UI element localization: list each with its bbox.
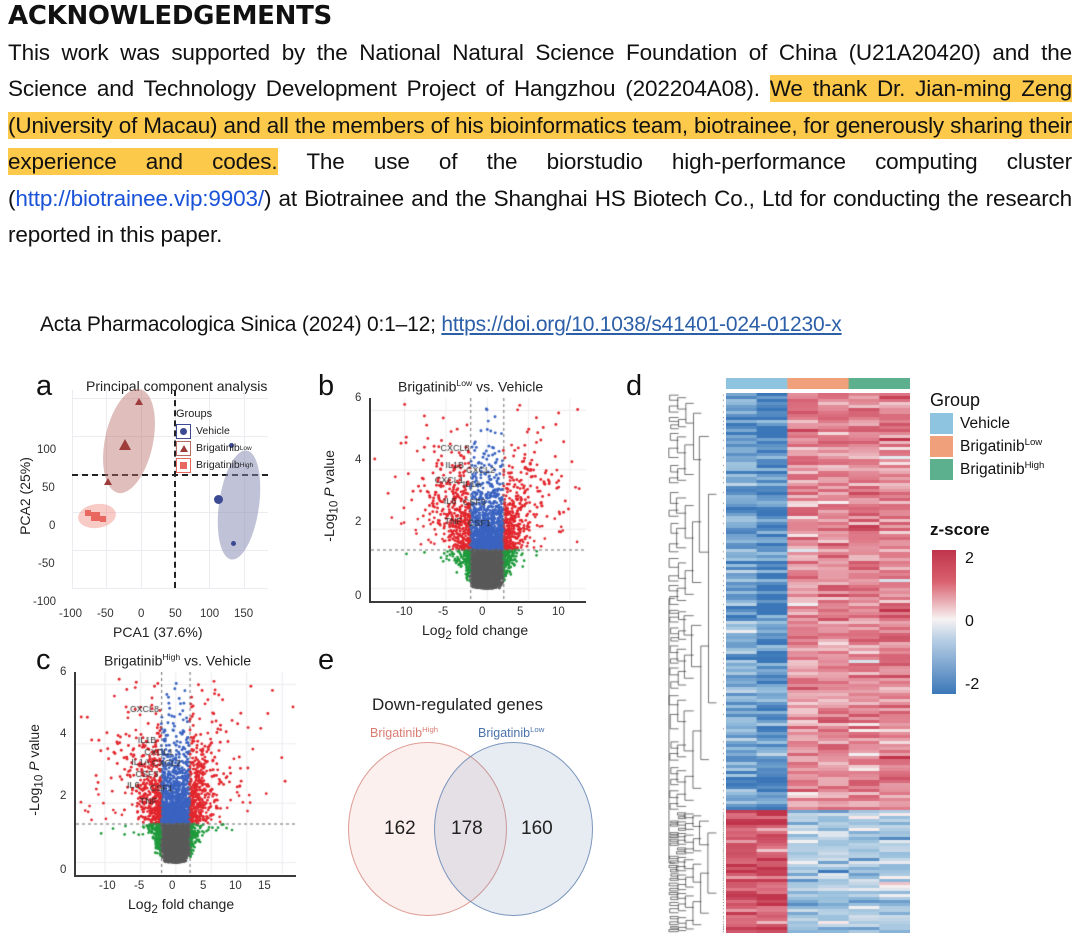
heatmap-matrix <box>726 393 910 933</box>
pca-ytick: 100 <box>37 444 56 456</box>
volcano-c-title-sup: High <box>162 652 180 662</box>
venn-label-low-text: Brigatinib <box>478 726 530 740</box>
volcano-b-ytick: 2 <box>355 516 361 528</box>
journal-reference: Acta Pharmacologica Sinica (2024) 0:1–12… <box>40 313 441 336</box>
volcano-b-xaxis <box>369 601 586 603</box>
volcano-c-xaxis-label: Log2 fold change <box>128 896 234 916</box>
doi-link[interactable]: https://doi.org/10.1038/s41401-024-01230… <box>441 313 841 336</box>
pca-xtick: 0 <box>138 608 144 620</box>
heatmap-legend-item-brigatinib-high[interactable]: BrigatinibHigh <box>930 459 1044 480</box>
volcano-c-xtick: -10 <box>99 880 116 892</box>
venn-title: Down-regulated genes <box>372 695 543 715</box>
volcano-c-xtick: 10 <box>229 880 242 892</box>
pca-legend-item-brigatinib-low[interactable]: BrigatinibLow <box>176 440 253 456</box>
pca-legend-label: Brigatinib <box>196 442 240 454</box>
pca-legend-label-sup: High <box>240 462 253 469</box>
pca-legend-item-vehicle[interactable]: Vehicle <box>176 423 253 439</box>
pca-legend-label: Brigatinib <box>196 459 240 471</box>
volcano-b-title-suffix: vs. Vehicle <box>472 379 543 395</box>
pca-point-brigatinib-high <box>91 512 100 521</box>
pca-ytick: -50 <box>38 558 55 570</box>
pca-xtick: 150 <box>234 608 253 620</box>
heatmap-legend-label-sup: High <box>1025 460 1045 471</box>
venn-diagram: 162 178 160 <box>348 742 598 914</box>
pca-point-brigatinib-high <box>104 478 112 485</box>
pca-xtick: 50 <box>169 608 182 620</box>
heatmap-legend-label: BrigatinibLow <box>960 437 1042 456</box>
pca-xtick: -50 <box>97 608 114 620</box>
brigatinib-high-marker-icon <box>176 458 191 473</box>
volcano-b-ytick: 6 <box>355 392 361 404</box>
heatmap-legend-item-vehicle[interactable]: Vehicle <box>930 413 1044 434</box>
pca-point-brigatinib-low <box>119 439 131 450</box>
volcano-b-ytick: 0 <box>355 590 361 602</box>
pca-legend-title: Groups <box>176 408 253 420</box>
volcano-b-xtick: 0 <box>479 606 485 618</box>
zscore-tick-high: 2 <box>965 550 974 568</box>
heatmap-legend-label: BrigatinibHigh <box>960 460 1044 479</box>
volcano-b-yaxis <box>369 398 371 602</box>
pca-legend-item-brigatinib-high[interactable]: BrigatinibHigh <box>176 457 253 473</box>
heatmap-legend-label: Vehicle <box>960 415 1010 433</box>
panel-letter-d: d <box>626 372 642 401</box>
acknowledgements-heading: ACKNOWLEDGEMENTS <box>8 2 1072 31</box>
volcano-c-canvas <box>76 672 296 874</box>
panel-letter-b: b <box>318 372 334 401</box>
volcano-c-title: BrigatinibHigh vs. Vehicle <box>104 652 251 669</box>
volcano-plot-b <box>371 398 586 600</box>
venn-label-high: BrigatinibHigh <box>370 725 438 740</box>
volcano-c-ytick: 4 <box>60 728 66 740</box>
volcano-c-ytick: 6 <box>60 666 66 678</box>
volcano-b-ytick: 4 <box>355 454 361 466</box>
volcano-c-xtick: 0 <box>169 880 175 892</box>
venn-count-intersection: 178 <box>451 818 483 840</box>
heatmap-legend-item-brigatinib-low[interactable]: BrigatinibLow <box>930 436 1044 457</box>
volcano-c-title-prefix: Brigatinib <box>104 653 162 669</box>
volcano-c-title-suffix: vs. Vehicle <box>180 653 251 669</box>
volcano-b-xtick: 10 <box>552 606 565 618</box>
heatmap-legend: Group Vehicle BrigatinibLow BrigatinibHi… <box>930 390 1044 480</box>
pca-xtick: 100 <box>200 608 219 620</box>
citation-line: Acta Pharmacologica Sinica (2024) 0:1–12… <box>40 313 842 337</box>
volcano-c-xtick: -5 <box>134 880 144 892</box>
brigatinib-low-swatch-icon <box>930 436 953 457</box>
pca-yaxis-label: PCA2 (25%) <box>17 457 33 535</box>
vehicle-swatch-icon <box>930 413 953 434</box>
volcano-c-xtick: 15 <box>258 880 271 892</box>
zscore-tick-low: -2 <box>965 676 979 694</box>
heatmap-legend-label-text: Brigatinib <box>960 461 1025 478</box>
pca-point-brigatinib-high <box>100 516 106 522</box>
zscore-legend-title: z-score <box>930 520 990 540</box>
volcano-b-title: BrigatinibLow vs. Vehicle <box>398 378 543 395</box>
pca-xaxis-label: PCA1 (37.6%) <box>113 624 202 640</box>
venn-label-high-text: Brigatinib <box>370 726 422 740</box>
volcano-b-canvas <box>371 398 586 600</box>
volcano-b-xaxis-label: Log2 fold change <box>422 622 528 642</box>
volcano-c-ytick: 0 <box>60 864 66 876</box>
cluster-url-link[interactable]: http://biotrainee.vip:9903/ <box>15 186 264 211</box>
heatmap-group-annotation-bar <box>726 378 910 389</box>
pca-legend-label: Vehicle <box>196 425 230 437</box>
brigatinib-low-marker-icon <box>176 441 191 456</box>
venn-count-low-only: 160 <box>521 818 553 840</box>
pca-point-vehicle <box>214 495 223 504</box>
acknowledgements-body: This work was supported by the National … <box>8 35 1072 254</box>
volcano-c-xaxis <box>74 875 296 877</box>
volcano-plot-c <box>76 672 296 874</box>
heatmap-legend-label-sup: Low <box>1025 437 1043 448</box>
panel-letter-e: e <box>318 646 334 675</box>
pca-legend-label-sup: Low <box>240 445 252 452</box>
zscore-tick-mid: 0 <box>965 613 974 631</box>
venn-count-high-only: 162 <box>384 818 416 840</box>
venn-label-low-sup: Low <box>530 725 544 734</box>
pca-point-brigatinib-low <box>135 398 143 405</box>
volcano-b-xtick: -5 <box>438 606 448 618</box>
volcano-b-title-sup: Low <box>456 378 472 388</box>
pca-xtick: -100 <box>59 608 82 620</box>
volcano-c-yaxis <box>74 672 76 876</box>
vehicle-marker-icon <box>176 424 191 439</box>
heatmap-panel <box>668 378 912 933</box>
panel-letter-c: c <box>36 646 51 675</box>
zscore-colorbar <box>932 550 956 694</box>
pca-legend: Groups Vehicle BrigatinibLow BrigatinibH… <box>176 408 253 474</box>
brigatinib-high-swatch-icon <box>930 459 953 480</box>
volcano-b-xtick: -10 <box>396 606 413 618</box>
volcano-b-yaxis-label: -Log10 P value <box>321 450 341 542</box>
heatmap-row-dendrogram <box>668 393 724 933</box>
figure-container: a Principal component analysis Groups <box>0 368 1080 942</box>
venn-label-high-sup: High <box>422 725 438 734</box>
volcano-b-xtick: 5 <box>517 606 523 618</box>
pca-ytick: 50 <box>42 482 55 494</box>
volcano-c-yaxis-label: -Log10 P value <box>26 724 46 816</box>
acknowledgements-section: ACKNOWLEDGEMENTS This work was supported… <box>8 2 1072 254</box>
volcano-c-xtick: 5 <box>200 880 206 892</box>
volcano-b-title-prefix: Brigatinib <box>398 379 456 395</box>
heatmap-legend-label-text: Brigatinib <box>960 438 1025 455</box>
pca-point-vehicle <box>231 541 236 546</box>
panel-letter-a: a <box>36 372 52 401</box>
volcano-c-ytick: 2 <box>60 790 66 802</box>
heatmap-legend-title: Group <box>930 390 1044 411</box>
pca-ytick: 0 <box>49 520 55 532</box>
pca-ytick: -100 <box>33 596 56 608</box>
venn-label-low: BrigatinibLow <box>478 725 544 740</box>
